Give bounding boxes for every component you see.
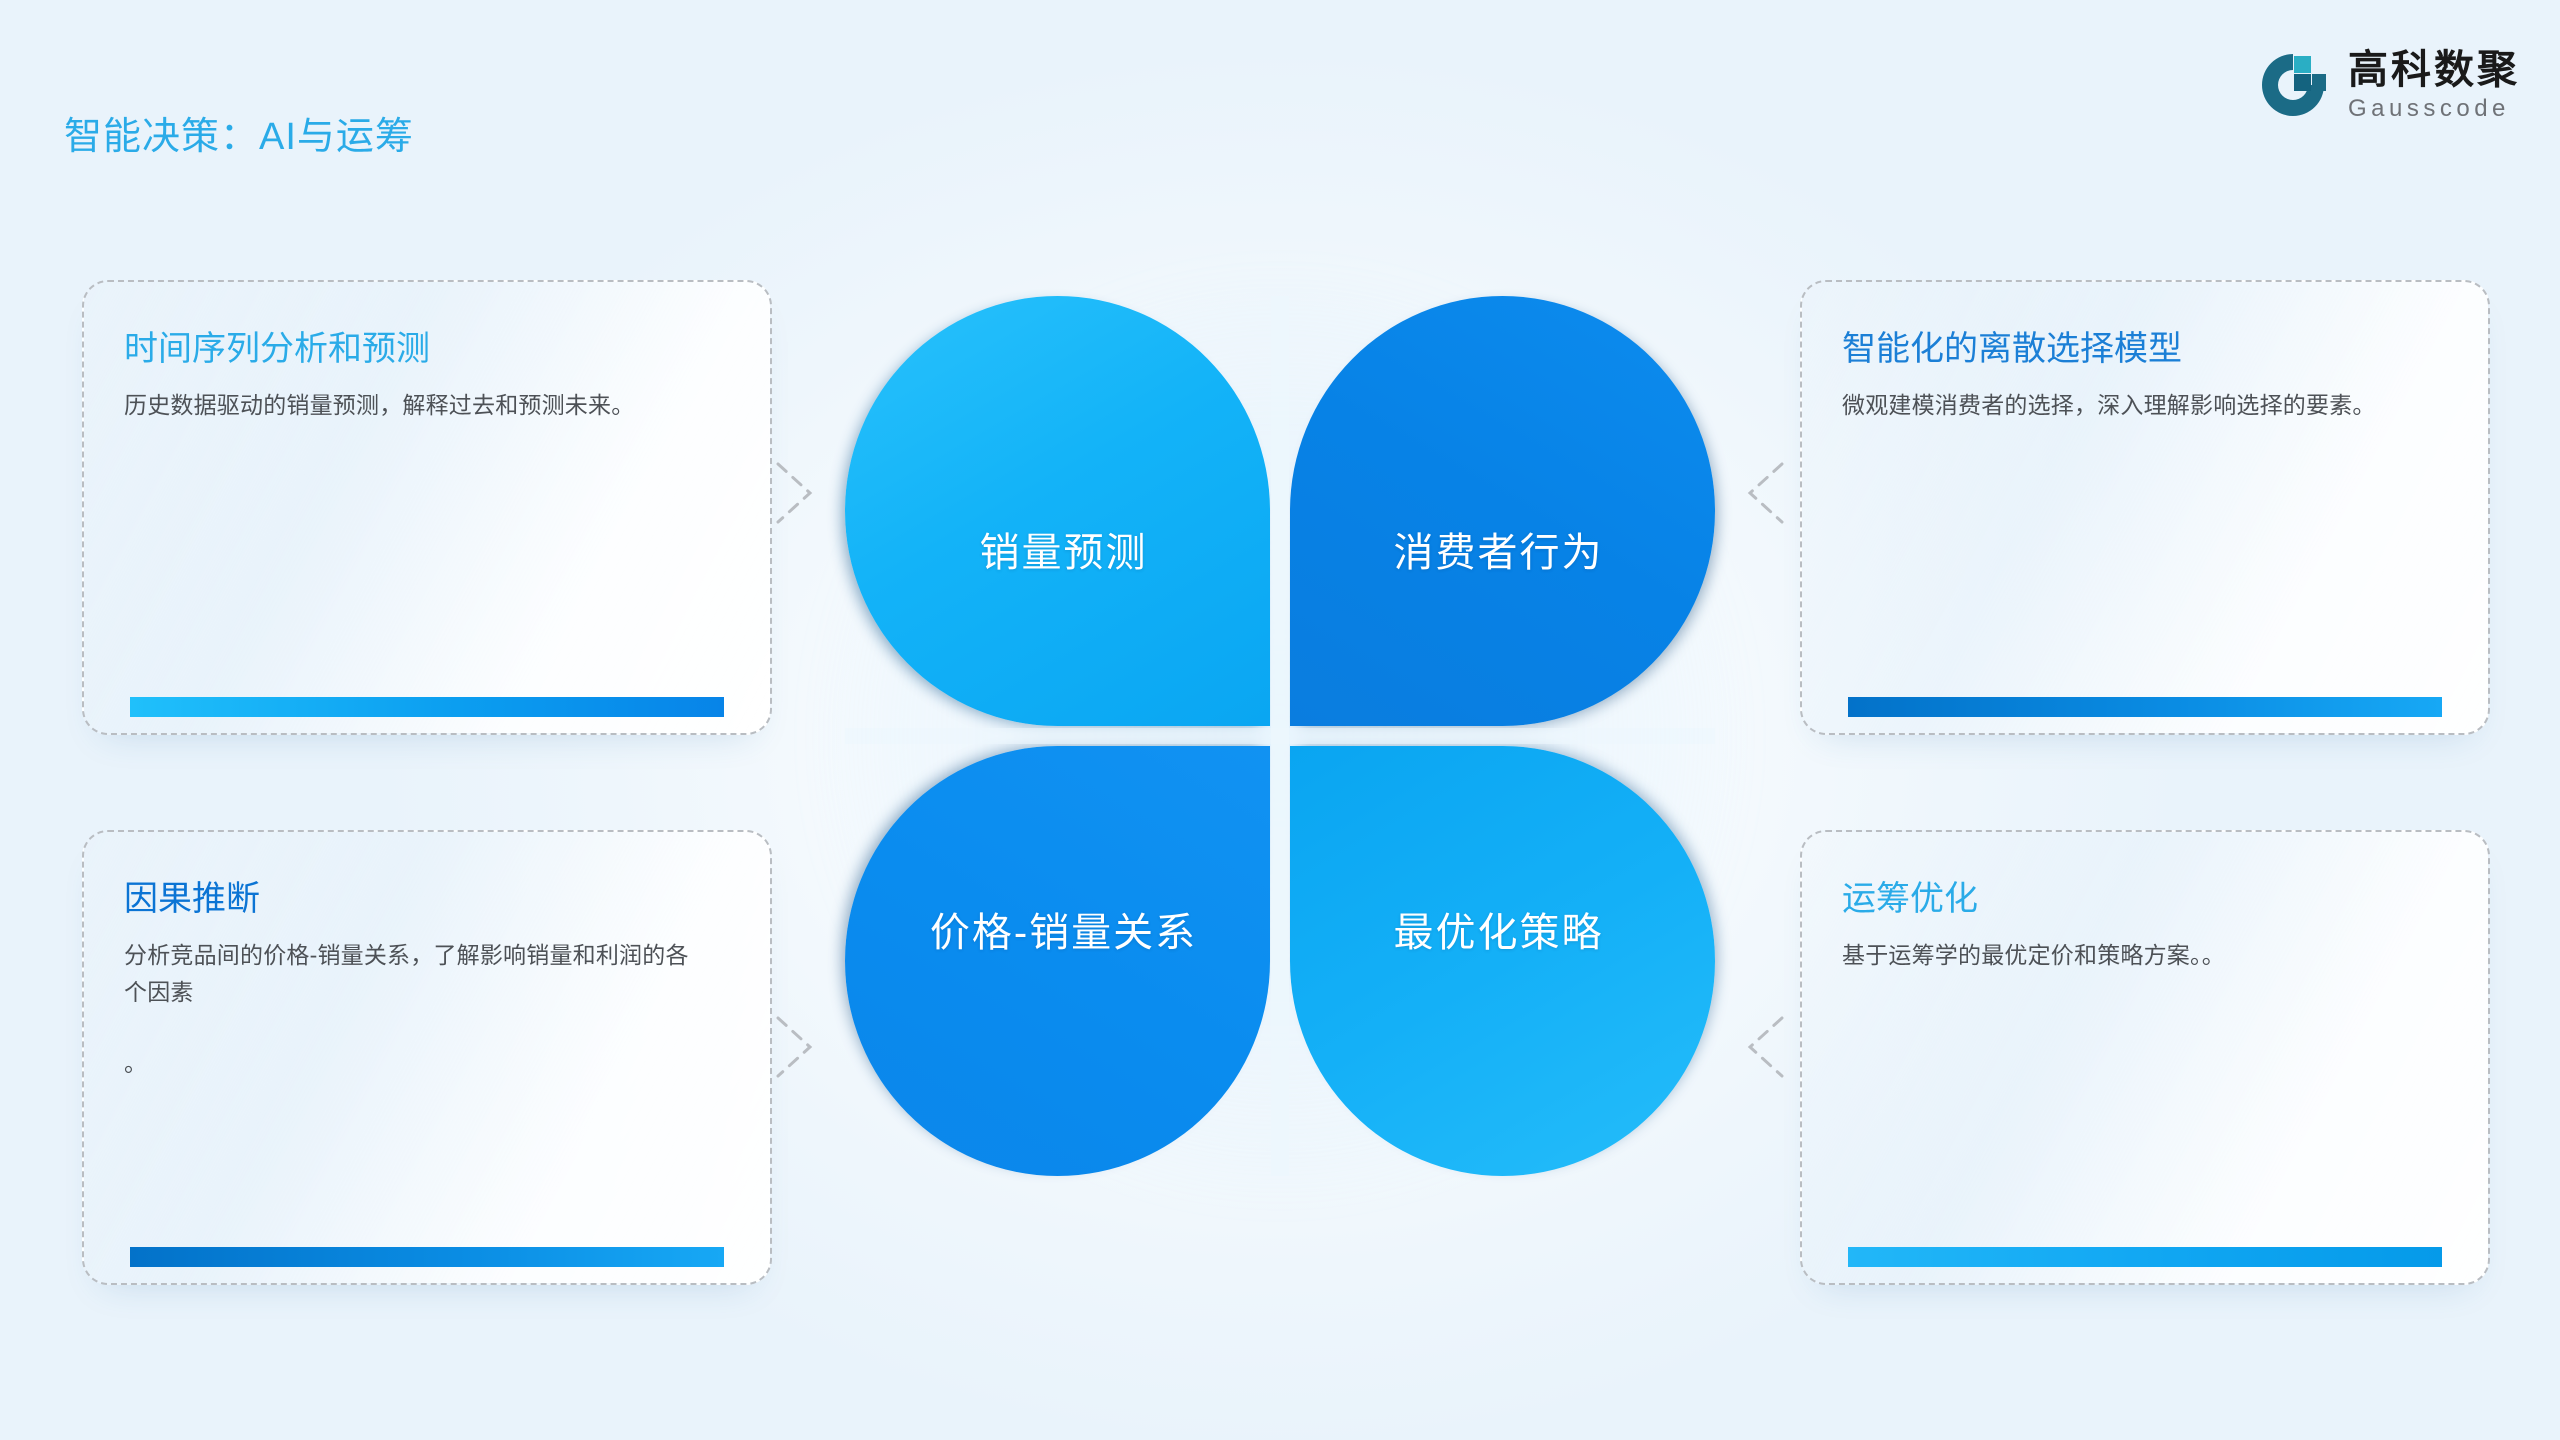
card-operations-optimization[interactable]: 运筹优化 基于运筹学的最优定价和策略方案。。: [1800, 830, 2490, 1285]
card-body: 运筹优化 基于运筹学的最优定价和策略方案。。: [1802, 832, 2488, 974]
chevron-right-icon: [772, 456, 818, 530]
card-causal-inference[interactable]: 因果推断 分析竞品间的价格-销量关系，了解影响销量和利润的各个因素 。: [82, 830, 772, 1285]
card-title: 运筹优化: [1842, 878, 2444, 921]
card-accent-bar: [130, 697, 724, 717]
petal-label: 销量预测: [980, 520, 1148, 578]
card-description: 基于运筹学的最优定价和策略方案。。: [1842, 937, 2422, 974]
petal-seam-horizontal: [845, 728, 1715, 744]
page-title: 智能决策：AI与运筹: [64, 105, 414, 160]
card-discrete-choice-model[interactable]: 智能化的离散选择模型 微观建模消费者的选择，深入理解影响选择的要素。: [1800, 280, 2490, 735]
chevron-left-icon: [1742, 456, 1788, 530]
card-time-series-forecasting[interactable]: 时间序列分析和预测 历史数据驱动的销量预测，解释过去和预测未来。: [82, 280, 772, 735]
card-description: 分析竞品间的价格-销量关系，了解影响销量和利润的各个因素 。: [124, 937, 704, 1083]
chevron-right-icon: [772, 1010, 818, 1084]
petal-sales-forecast[interactable]: 销量预测: [845, 296, 1270, 726]
card-title: 智能化的离散选择模型: [1842, 328, 2444, 371]
petal-label: 消费者行为: [1394, 520, 1604, 578]
petal-seam-vertical: [1271, 296, 1289, 1176]
card-accent-bar: [1848, 1247, 2442, 1267]
petal-label: 最优化策略: [1394, 900, 1604, 958]
four-petal-diagram: 销量预测 消费者行为 价格-销量关系 最优化策略: [845, 296, 1715, 1176]
logo-name-en: Gausscode: [2348, 97, 2520, 121]
petal-price-sales-relation[interactable]: 价格-销量关系: [845, 746, 1270, 1176]
card-description-main: 分析竞品间的价格-销量关系，了解影响销量和利润的各个因素: [124, 942, 689, 1005]
card-body: 智能化的离散选择模型 微观建模消费者的选择，深入理解影响选择的要素。: [1802, 282, 2488, 424]
brand-logo: 高科数聚 Gausscode: [2256, 48, 2520, 122]
logo-name-cn: 高科数聚: [2348, 50, 2520, 90]
card-body: 因果推断 分析竞品间的价格-销量关系，了解影响销量和利润的各个因素 。: [84, 832, 770, 1082]
card-accent-bar: [1848, 697, 2442, 717]
card-body: 时间序列分析和预测 历史数据驱动的销量预测，解释过去和预测未来。: [84, 282, 770, 424]
card-description-tail: 。: [124, 1045, 704, 1082]
card-title: 时间序列分析和预测: [124, 328, 726, 371]
petal-label: 价格-销量关系: [930, 900, 1197, 958]
chevron-left-icon: [1742, 1010, 1788, 1084]
gausscode-logo-icon: [2256, 48, 2330, 122]
petal-optimization-strategy[interactable]: 最优化策略: [1290, 746, 1715, 1176]
petal-consumer-behavior[interactable]: 消费者行为: [1290, 296, 1715, 726]
logo-wordmark: 高科数聚 Gausscode: [2348, 50, 2520, 121]
card-description: 微观建模消费者的选择，深入理解影响选择的要素。: [1842, 387, 2422, 424]
card-description: 历史数据驱动的销量预测，解释过去和预测未来。: [124, 387, 704, 424]
card-accent-bar: [130, 1247, 724, 1267]
card-title: 因果推断: [124, 878, 726, 921]
